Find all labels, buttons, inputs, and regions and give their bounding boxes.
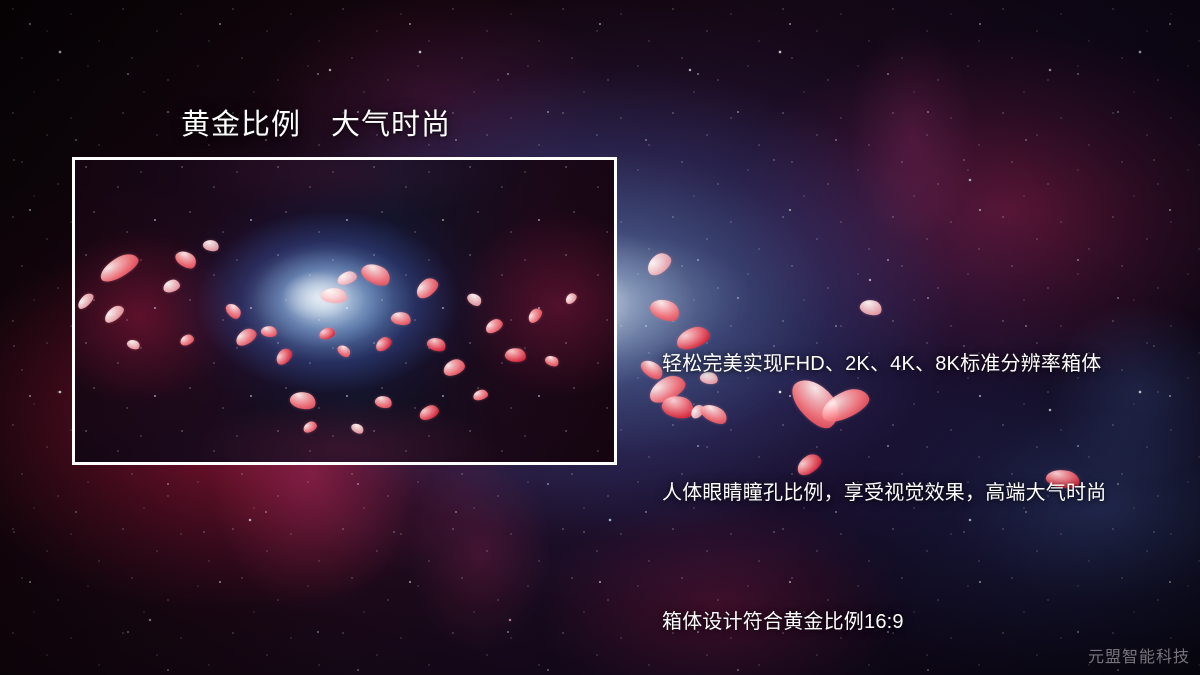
watermark: 元盟智能科技	[1088, 643, 1190, 667]
body-line-1: 轻松完美实现FHD、2K、4K、8K标准分辨率箱体	[662, 343, 1106, 386]
body-line-2: 人体眼睛瞳孔比例，享受视觉效果，高端大气时尚	[662, 472, 1106, 515]
body-line-3: 箱体设计符合黄金比例16:9	[662, 601, 1106, 644]
photo-content	[75, 160, 614, 462]
framed-nebula-photo	[72, 157, 617, 465]
body-copy: 轻松完美实现FHD、2K、4K、8K标准分辨率箱体 人体眼睛瞳孔比例，享受视觉效…	[662, 257, 1106, 675]
presentation-slide: 黄金比例 大气时尚 轻松完美实现FHD、2K、4K、8K标准分辨率箱体 人体眼睛…	[0, 0, 1200, 675]
page-title: 黄金比例 大气时尚	[181, 101, 451, 143]
photo-starfield	[75, 160, 614, 462]
